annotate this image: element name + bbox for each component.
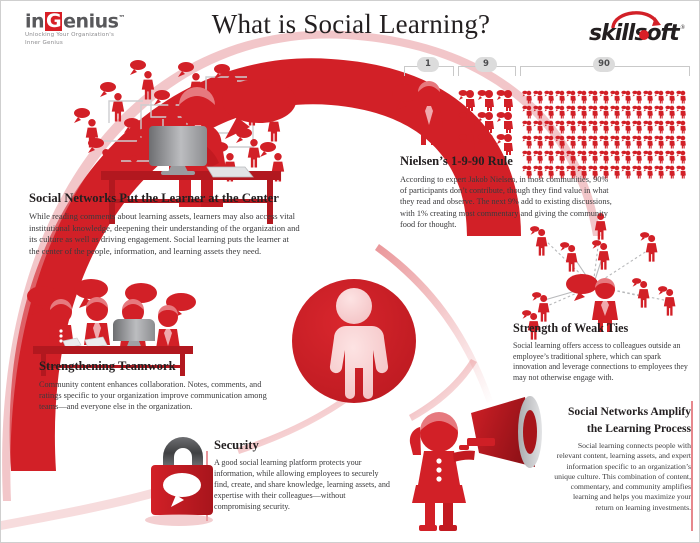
person-pictogram [522,119,533,134]
section-strengthening-teamwork: Strengthening Teamwork Community content… [39,359,284,413]
monitor-icon [149,126,207,175]
body-strengthening-teamwork: Community content enhances collaboration… [39,379,284,413]
person-pictogram [632,149,643,164]
person-pictogram [621,104,632,119]
person-pictogram [665,134,676,149]
person-pictogram [632,119,643,134]
papers-icon [63,337,107,348]
infographic-canvas: inGenius™ Unlocking Your Organization's … [0,0,700,543]
person-pictogram [654,104,665,119]
heading-social-networks-center: Social Networks Put the Learner at the C… [29,191,301,206]
person-pictogram [654,164,665,179]
person-pictogram [566,89,577,104]
section-strength-weak-ties: Strength of Weak Ties Social learning of… [513,321,693,383]
person-pictogram [676,164,687,179]
person-pictogram [522,134,533,149]
person-pictogram [599,89,610,104]
heading-strengthening-teamwork: Strengthening Teamwork [39,359,284,374]
body-nielsen-rule: According to expert Jakob Nielsen, in mo… [400,174,616,230]
person-pictogram [632,104,643,119]
person-pictogram [577,89,588,104]
person-pictogram [621,149,632,164]
team-speech-bubbles [27,279,196,319]
chart-label-nine: 9 [475,57,497,72]
person-pictogram [610,89,621,104]
padlock-body [151,465,213,515]
left-divider [206,451,208,521]
person-pictogram [588,134,599,149]
person-pictogram [522,89,533,104]
heading-amplify-line1: Social Networks Amplify [553,405,691,419]
center-learner-illustration [292,279,416,403]
megaphone-woman-icon [410,412,475,531]
skillsoft-dot-icon [639,30,649,40]
person-pictogram [544,89,555,104]
person-pictogram [643,104,654,119]
person-pictogram [555,89,566,104]
padlock-bubble-icon [163,473,201,497]
person-pictogram [654,89,665,104]
person-pictogram [665,164,676,179]
table-monitor-icon [113,319,155,349]
person-pictogram [621,164,632,179]
person-pictogram [643,89,654,104]
person-pictogram [610,119,621,134]
person-pictogram [588,104,599,119]
person-pictogram [676,119,687,134]
center-person-icon [330,288,388,399]
faded-streaks [237,244,493,454]
person-pictogram [533,104,544,119]
person-pictogram [566,134,577,149]
section-social-networks-amplify: Social Networks Amplify the Learning Pro… [553,405,691,513]
team-people-icons [48,297,180,349]
megaphone-handle [467,438,495,446]
bottom-sweep [1,471,209,530]
person-pictogram [533,119,544,134]
network-people [74,60,284,184]
person-pictogram [665,104,676,119]
heading-nielsen-rule: Nielsen’s 1-9-90 Rule [400,154,616,169]
person-pictogram [676,149,687,164]
person-pictogram [610,104,621,119]
padlock-illustration [145,437,213,526]
person-pictogram [654,134,665,149]
person-pictogram [621,119,632,134]
megaphone-bell [518,396,542,468]
chart-label-one: 1 [417,57,439,72]
rule-group-nine-icons [458,89,516,155]
person-pictogram [610,134,621,149]
padlock-shackle [163,437,203,469]
person-pictogram [555,104,566,119]
person-pictogram [676,104,687,119]
megaphone-illustration [410,396,542,531]
ingenius-tagline-line2: Inner Genius [25,40,165,47]
person-pictogram [588,119,599,134]
keyboard-icon [207,167,253,177]
network-lines [97,77,269,161]
person-pictogram [577,134,588,149]
padlock-shadow [145,514,213,526]
person-pictogram [665,119,676,134]
person-pictogram [555,134,566,149]
section-nielsen-rule: Nielsen’s 1-9-90 Rule According to exper… [400,154,616,230]
big-speech-bubble-icon [222,79,296,139]
person-pictogram [632,89,643,104]
megaphone-cone [471,397,535,467]
person-pictogram [654,119,665,134]
section-social-networks-center: Social Networks Put the Learner at the C… [29,191,301,257]
person-pictogram [599,104,610,119]
person-pictogram [643,134,654,149]
person-pictogram [544,104,555,119]
person-pictogram [533,89,544,104]
one-nine-ninety-chart: 1 9 90 [396,57,696,153]
chart-label-ninety: 90 [593,57,615,72]
heading-strength-weak-ties: Strength of Weak Ties [513,321,693,336]
person-pictogram [621,89,632,104]
person-pictogram [665,89,676,104]
person-pictogram [555,119,566,134]
skillsoft-tm: ® [680,25,685,31]
person-pictogram [643,164,654,179]
mini-speech-bubbles [74,60,276,157]
person-pictogram [676,89,687,104]
person-pictogram [643,149,654,164]
person-pictogram [599,119,610,134]
body-social-networks-center: While reading comments about learning as… [29,211,301,257]
heading-security: Security [214,438,394,453]
person-pictogram [654,149,665,164]
person-pictogram [566,119,577,134]
person-pictogram [588,89,599,104]
weak-ties-links [541,223,669,306]
right-divider [691,401,693,531]
skillsoft-wordmark: skillsoft [589,23,679,45]
section-security: Security A good social learning platform… [214,438,394,513]
person-pictogram [665,149,676,164]
person-pictogram [621,134,632,149]
person-pictogram [544,119,555,134]
person-pictogram [533,134,544,149]
person-pictogram [599,134,610,149]
body-security: A good social learning platform protects… [214,458,394,513]
heading-amplify-line2: the Learning Process [553,422,691,436]
person-pictogram [522,104,533,119]
body-strength-weak-ties: Social learning offers access to colleag… [513,341,693,383]
person-pictogram [676,134,687,149]
person-pictogram [643,119,654,134]
person-pictogram [577,119,588,134]
person-pictogram [632,164,643,179]
skillsoft-logo[interactable]: skillsoft ® [589,11,685,47]
body-social-networks-amplify: Social learning connects people with rel… [553,441,691,513]
person-pictogram [632,134,643,149]
person-pictogram [544,134,555,149]
person-pictogram [566,104,577,119]
seated-person-icon [169,87,227,207]
person-pictogram [577,104,588,119]
